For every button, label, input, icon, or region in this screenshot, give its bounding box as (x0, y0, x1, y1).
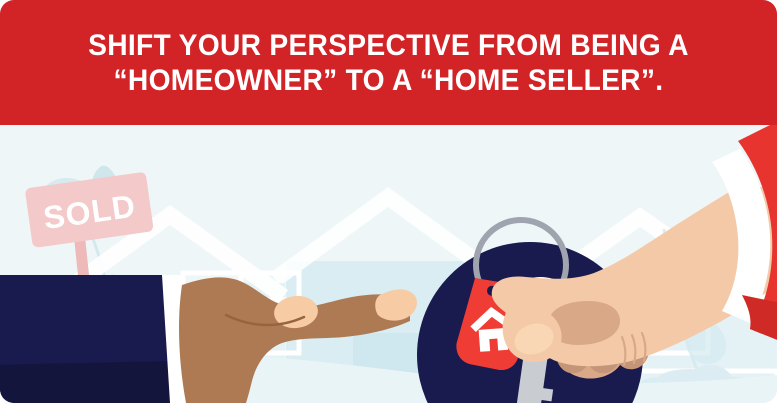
headline-banner: SHIFT YOUR PERSPECTIVE FROM BEING A “HOM… (0, 0, 777, 125)
promo-card: SHIFT YOUR PERSPECTIVE FROM BEING A “HOM… (0, 0, 777, 403)
illustration-scene: SOLD (0, 125, 777, 403)
receiving-sleeve-shadow (0, 361, 178, 403)
headline-line-1: SHIFT YOUR PERSPECTIVE FROM BEING A (88, 28, 689, 63)
headline-line-2: “HOMEOWNER” TO A “HOME SELLER”. (114, 63, 664, 98)
